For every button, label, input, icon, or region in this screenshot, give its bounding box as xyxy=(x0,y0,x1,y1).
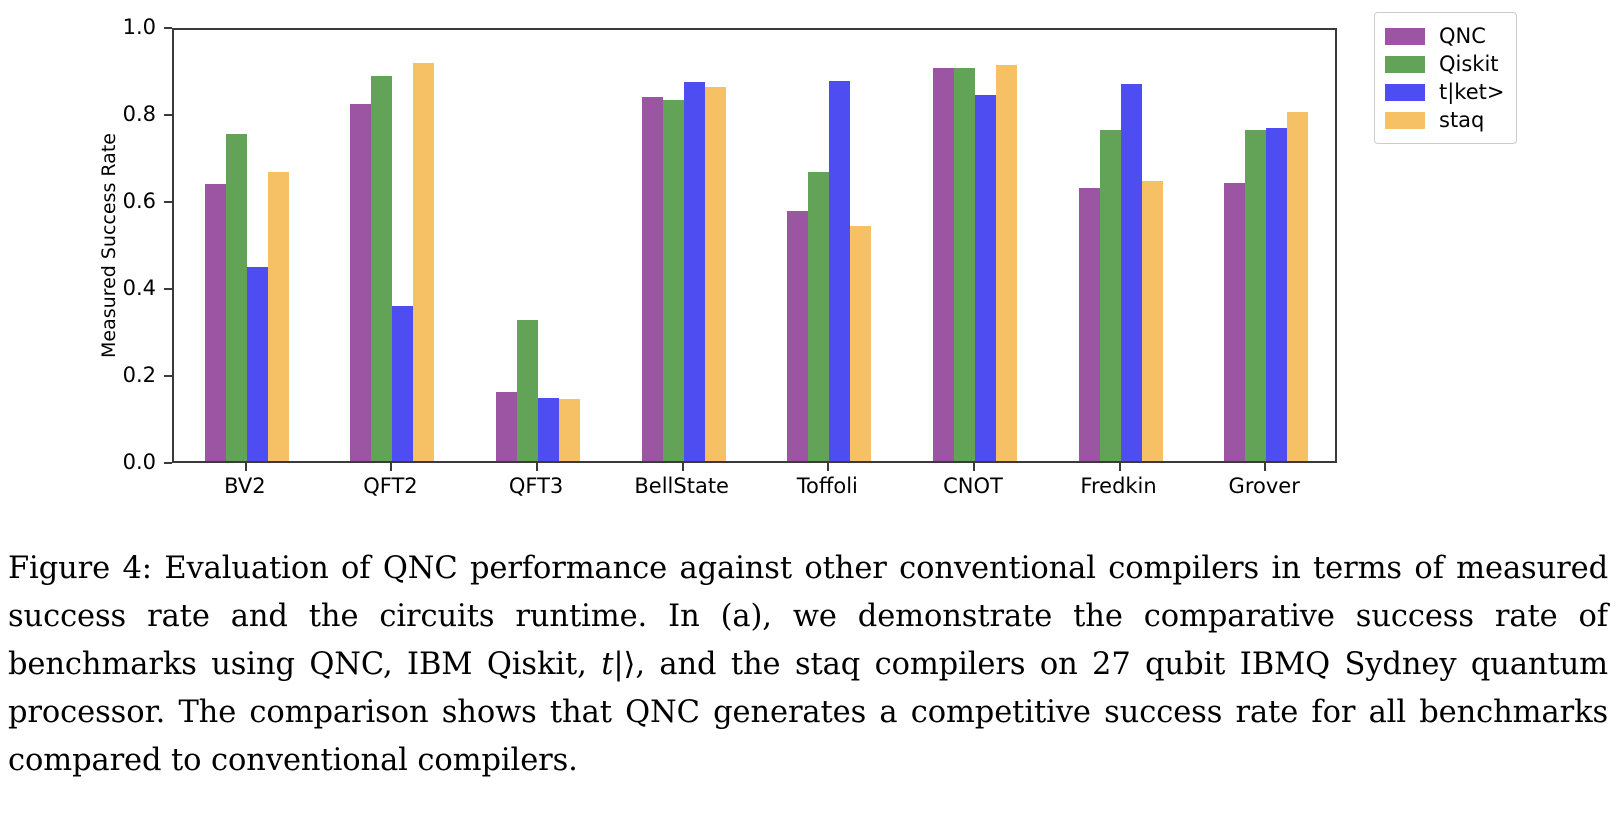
x-tick-label: BellState xyxy=(634,474,729,498)
bar xyxy=(517,320,538,461)
legend-swatch xyxy=(1385,28,1425,45)
bar xyxy=(705,87,726,461)
y-tick-label: 0.6 xyxy=(123,189,156,213)
x-tick-label: QFT3 xyxy=(509,474,563,498)
y-tick-mark xyxy=(164,27,172,29)
x-tick-label: Grover xyxy=(1229,474,1300,498)
bar xyxy=(996,65,1017,461)
x-tick-mark xyxy=(682,463,684,471)
bar xyxy=(975,95,996,461)
y-tick-label: 0.2 xyxy=(123,363,156,387)
bar xyxy=(226,134,247,461)
x-tick-mark xyxy=(827,463,829,471)
caption-prefix: Figure 4: xyxy=(8,551,152,586)
y-tick-label: 0.8 xyxy=(123,102,156,126)
bar xyxy=(1121,84,1142,461)
x-tick-mark xyxy=(536,463,538,471)
bar xyxy=(247,267,268,461)
bar xyxy=(268,172,289,461)
x-tick-label: Fredkin xyxy=(1080,474,1156,498)
legend-label: staq xyxy=(1439,108,1484,132)
legend-item-qnc[interactable]: QNC xyxy=(1385,22,1504,50)
bar xyxy=(1245,130,1266,461)
figure-caption: Figure 4: Evaluation of QNC performance … xyxy=(8,545,1608,785)
legend-swatch xyxy=(1385,112,1425,129)
figure-container: Measured Success Rate 0.00.20.40.60.81.0… xyxy=(0,0,1616,520)
legend-item-staq[interactable]: staq xyxy=(1385,106,1504,134)
bar xyxy=(205,184,226,461)
x-tick-mark xyxy=(1119,463,1121,471)
legend: QNCQiskitt|ket>staq xyxy=(1374,12,1517,144)
x-tick-mark xyxy=(390,463,392,471)
bar xyxy=(371,76,392,461)
x-tick-mark xyxy=(245,463,247,471)
x-tick-mark xyxy=(973,463,975,471)
legend-swatch xyxy=(1385,84,1425,101)
bar xyxy=(663,100,684,461)
x-tick-mark xyxy=(1264,463,1266,471)
legend-label: Qiskit xyxy=(1439,52,1499,76)
legend-item-t-ket[interactable]: t|ket> xyxy=(1385,78,1504,106)
y-tick-mark xyxy=(164,114,172,116)
bar xyxy=(850,226,871,461)
bar xyxy=(829,81,850,461)
caption-math-t: t xyxy=(601,647,613,682)
bar xyxy=(350,104,371,461)
bar xyxy=(787,211,808,461)
bar xyxy=(1142,181,1163,461)
bar xyxy=(1287,112,1308,461)
bar xyxy=(538,398,559,461)
y-tick-mark xyxy=(164,201,172,203)
legend-item-qiskit[interactable]: Qiskit xyxy=(1385,50,1504,78)
bars-layer xyxy=(174,30,1335,461)
y-tick-mark xyxy=(164,462,172,464)
y-tick-mark xyxy=(164,375,172,377)
x-tick-label: QFT2 xyxy=(363,474,417,498)
caption-math-ket: |⟩ xyxy=(613,647,635,682)
x-tick-label: Toffoli xyxy=(797,474,858,498)
y-tick-mark xyxy=(164,288,172,290)
x-tick-label: BV2 xyxy=(224,474,266,498)
legend-swatch xyxy=(1385,56,1425,73)
bar xyxy=(1224,183,1245,461)
bar xyxy=(496,392,517,461)
y-tick-label: 1.0 xyxy=(123,15,156,39)
bar xyxy=(684,82,705,461)
bar xyxy=(1100,130,1121,461)
y-tick-label: 0.4 xyxy=(123,276,156,300)
bar xyxy=(808,172,829,461)
bar xyxy=(933,68,954,461)
bar xyxy=(1079,188,1100,461)
bar xyxy=(642,97,663,461)
bar xyxy=(1266,128,1287,461)
x-tick-label: CNOT xyxy=(943,474,1003,498)
bar xyxy=(559,399,580,461)
bar xyxy=(392,306,413,461)
plot-area xyxy=(172,28,1337,463)
legend-label: QNC xyxy=(1439,24,1486,48)
bar xyxy=(954,68,975,461)
bar xyxy=(413,63,434,461)
y-tick-label: 0.0 xyxy=(123,450,156,474)
legend-label: t|ket> xyxy=(1439,80,1504,104)
y-axis-label: Measured Success Rate xyxy=(96,28,122,463)
